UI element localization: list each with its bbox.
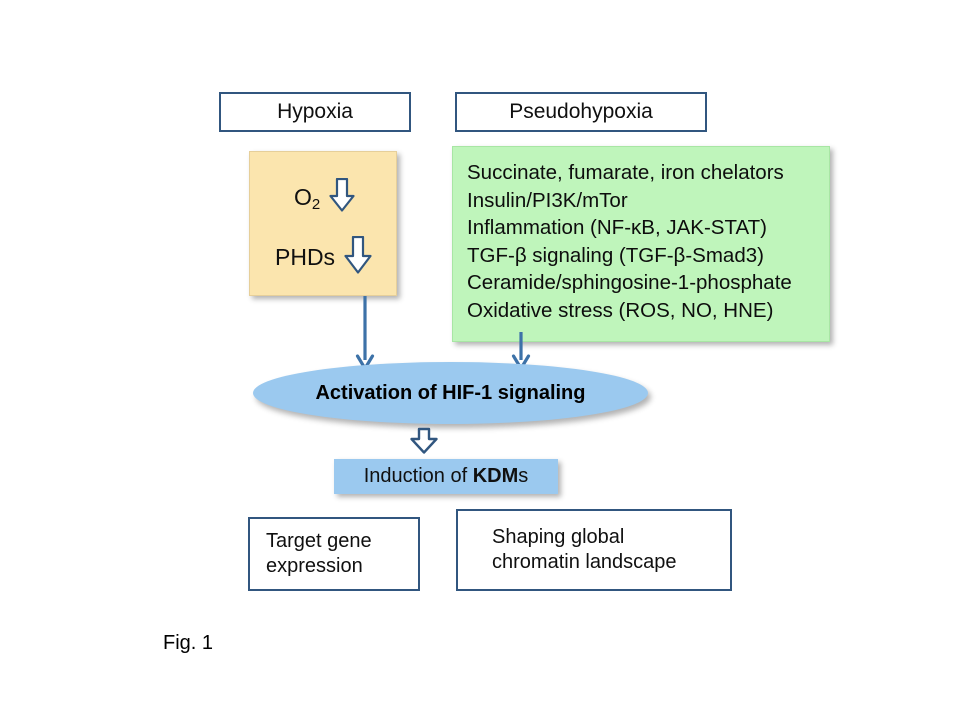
down-block-arrow-icon bbox=[329, 178, 355, 217]
down-block-arrow-icon bbox=[344, 236, 372, 279]
pseudohypoxia-box: Pseudohypoxia bbox=[455, 92, 707, 132]
activation-ellipse: Activation of HIF-1 signaling bbox=[253, 362, 648, 424]
induction-of-kdms-bar: Induction of KDMs bbox=[334, 459, 558, 494]
driver-line: Oxidative stress (ROS, NO, HNE) bbox=[467, 297, 829, 325]
figure-caption: Fig. 1 bbox=[163, 632, 213, 655]
hypoxia-to-ellipse-connector bbox=[355, 296, 375, 374]
phds-label: PHDs bbox=[275, 244, 335, 271]
target-gene-expression-box: Target gene expression bbox=[248, 517, 420, 591]
phds-row: PHDs bbox=[275, 236, 372, 279]
ellipse-to-kdm-connector bbox=[409, 427, 439, 455]
hypoxia-mechanism-panel: O2 PHDs bbox=[249, 151, 397, 296]
induction-suffix: s bbox=[518, 465, 528, 487]
driver-line: TGF-β signaling (TGF-β-Smad3) bbox=[467, 242, 829, 270]
induction-label: Induction of KDMs bbox=[364, 464, 529, 489]
induction-bold: KDM bbox=[473, 465, 519, 487]
driver-line: Inflammation (NF-κB, JAK-STAT) bbox=[467, 214, 829, 242]
driver-line: Insulin/PI3K/mTor bbox=[467, 187, 829, 215]
o2-row: O2 bbox=[294, 178, 355, 217]
activation-label: Activation of HIF-1 signaling bbox=[315, 381, 585, 406]
hypoxia-box: Hypoxia bbox=[219, 92, 411, 132]
o2-label: O2 bbox=[294, 184, 320, 211]
pseudohypoxia-label: Pseudohypoxia bbox=[509, 99, 653, 125]
driver-line: Succinate, fumarate, iron chelators bbox=[467, 159, 829, 187]
hypoxia-label: Hypoxia bbox=[277, 99, 353, 125]
chromatin-landscape-label: Shaping global chromatin landscape bbox=[492, 525, 677, 575]
driver-line: Ceramide/sphingosine-1-phosphate bbox=[467, 269, 829, 297]
figure-canvas: Hypoxia Pseudohypoxia O2 PHDs Succinate,… bbox=[0, 0, 960, 720]
induction-prefix: Induction of bbox=[364, 465, 473, 487]
chromatin-landscape-box: Shaping global chromatin landscape bbox=[456, 509, 732, 591]
target-gene-expression-label: Target gene expression bbox=[266, 529, 372, 579]
pseudohypoxia-drivers-panel: Succinate, fumarate, iron chelators Insu… bbox=[452, 146, 830, 342]
